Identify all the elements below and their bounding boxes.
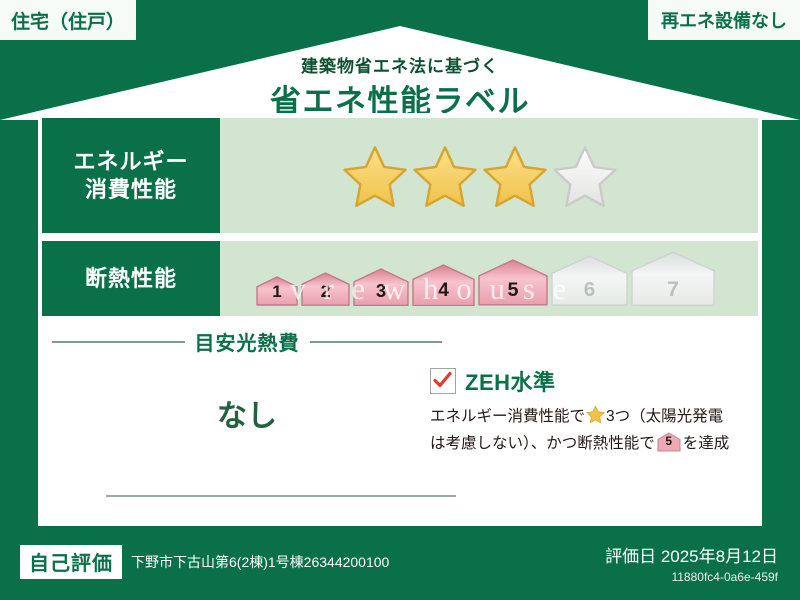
utility-cost-value: なし: [52, 391, 442, 435]
inline-house-number: 5: [657, 432, 681, 451]
insulation-level-house: 4: [412, 264, 475, 307]
heading-rule-right: [310, 341, 443, 343]
insulation-level-number: 3: [353, 280, 409, 302]
zeh-checkbox[interactable]: [430, 368, 456, 394]
insulation-level-house: 5: [478, 259, 548, 306]
energy-label-line2: 消費性能: [85, 176, 177, 204]
insulation-level-house: 1: [256, 276, 298, 306]
insulation-performance-label-cell: 断熱性能: [42, 241, 220, 316]
evaluation-id: 11880fc4-0a6e-459f: [605, 570, 778, 584]
inline-house-icon: 5: [657, 432, 681, 452]
insulation-level-house: 3: [353, 268, 409, 306]
energy-performance-label-cell: エネルギー 消費性能: [42, 118, 220, 233]
insulation-level-number: 4: [412, 280, 475, 302]
insulation-level-number: 7: [631, 278, 715, 302]
insulation-level-house: 7: [631, 251, 715, 306]
inline-star-icon: [586, 405, 605, 432]
insulation-level-house: 2: [301, 272, 350, 306]
insulation-level-scale: 1234567: [256, 251, 715, 306]
zeh-title: ZEH水準: [465, 365, 556, 397]
label-subtitle: 建築物省エネ法に基づく: [0, 52, 800, 77]
heading-rule-left: [52, 341, 185, 343]
utility-cost-title: 目安光熱費: [195, 327, 300, 356]
insulation-performance-value-cell: 1234567 v r e w h o u s e: [220, 241, 758, 316]
zeh-heading: ZEH水準: [430, 365, 756, 397]
property-address: 下野市下古山第6(2棟)1号棟26344200100: [131, 552, 389, 572]
star-filled-icon: [412, 144, 478, 208]
energy-performance-row: エネルギー 消費性能: [42, 118, 758, 233]
zeh-desc-part4: を達成: [683, 435, 730, 452]
insulation-performance-row: 断熱性能 1234567 v r e w h o u s e: [42, 241, 758, 316]
zeh-standard-block: ZEH水準 エネルギー消費性能で 3つ（太陽光発電 は考慮しない）、かつ断熱性能…: [430, 365, 756, 456]
self-evaluation-badge: 自己評価: [20, 545, 122, 579]
zeh-desc-part3: は考慮しない）、かつ断熱性能で: [430, 435, 655, 452]
insulation-level-number: 6: [551, 278, 628, 302]
cost-bottom-divider: [106, 495, 456, 497]
insulation-level-number: 1: [256, 282, 298, 302]
star-rating: [342, 144, 618, 208]
insulation-level-number: 5: [478, 279, 548, 302]
utility-cost-heading: 目安光熱費: [52, 327, 442, 356]
star-empty-icon: [552, 144, 618, 208]
zeh-description: エネルギー消費性能で 3つ（太陽光発電 は考慮しない）、かつ断熱性能で 5 を達…: [430, 405, 756, 456]
energy-performance-value-cell: [220, 118, 758, 233]
footer-right-group: 評価日 2025年8月12日 11880fc4-0a6e-459f: [605, 542, 778, 584]
star-filled-icon: [482, 144, 548, 208]
zeh-desc-part1: エネルギー消費性能で: [430, 408, 585, 425]
label-header: 住宅（住戸） 再エネ設備なし 建築物省エネ法に基づく 省エネ性能ラベル: [0, 0, 800, 120]
badge-building-type: 住宅（住戸）: [0, 0, 136, 40]
insulation-level-house: 6: [551, 255, 628, 306]
star-filled-icon: [342, 144, 408, 208]
energy-performance-label: 住宅（住戸） 再エネ設備なし 建築物省エネ法に基づく 省エネ性能ラベル エネルギ…: [0, 0, 800, 600]
energy-label-line1: エネルギー: [73, 148, 188, 176]
footer-left-group: 自己評価 下野市下古山第6(2棟)1号棟26344200100: [20, 545, 389, 579]
zeh-desc-part2: 3つ（太陽光発電: [606, 408, 723, 425]
check-icon: [432, 370, 453, 391]
insulation-level-number: 2: [301, 281, 350, 302]
label-body-panel: エネルギー 消費性能 断熱性能 1234567 v r e w h o u s …: [38, 113, 762, 526]
badge-renewable-energy: 再エネ設備なし: [648, 0, 800, 40]
evaluation-date: 評価日 2025年8月12日: [605, 542, 778, 567]
label-footer: 自己評価 下野市下古山第6(2棟)1号棟26344200100 評価日 2025…: [0, 526, 800, 600]
